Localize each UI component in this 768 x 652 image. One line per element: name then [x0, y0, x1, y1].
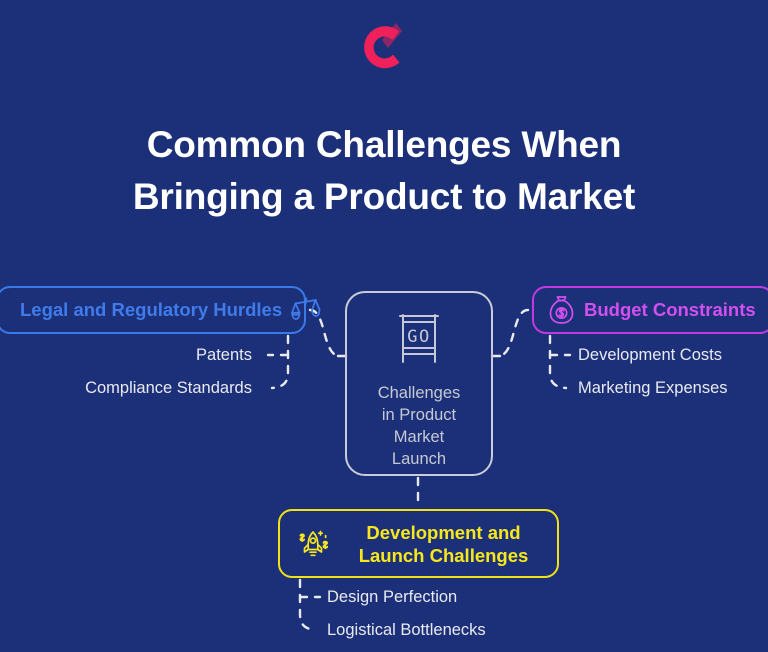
sub-item-compliance-standards[interactable]: Compliance Standards — [85, 379, 252, 398]
connector-budget-to-center — [500, 310, 528, 356]
infographic-canvas: Common Challenges When Bringing a Produc… — [0, 0, 768, 652]
sub-item-patents[interactable]: Patents — [196, 346, 252, 365]
center-card-label: Challenges in Product Market Launch — [378, 382, 461, 470]
rocket-money-icon — [294, 525, 332, 563]
connector-development-trunk — [300, 580, 316, 630]
center-line-1: Challenges — [378, 382, 461, 404]
branch-card-development[interactable]: Development and Launch Challenges — [278, 509, 559, 578]
sub-item-marketing-expenses[interactable]: Marketing Expenses — [578, 379, 728, 398]
connector-budget-trunk — [550, 336, 566, 388]
connector-legal-trunk — [272, 336, 288, 388]
center-card[interactable]: GO Challenges in Product Market Launch — [345, 291, 493, 476]
sub-item-development-costs[interactable]: Development Costs — [578, 346, 722, 365]
branch-label-budget: Budget Constraints — [584, 299, 756, 321]
sub-item-design-perfection[interactable]: Design Perfection — [327, 588, 457, 607]
letter-c-logo-icon — [355, 20, 413, 74]
branch-card-budget[interactable]: Budget Constraints — [532, 286, 768, 334]
center-line-2: in Product — [378, 404, 461, 426]
go-flag-text: GO — [407, 327, 430, 347]
branch-card-legal[interactable]: Legal and Regulatory Hurdles — [0, 286, 306, 334]
go-flag-icon: GO — [386, 312, 452, 369]
branch-label-legal: Legal and Regulatory Hurdles — [20, 299, 282, 321]
money-bag-icon — [548, 295, 575, 325]
brand-logo — [0, 18, 768, 76]
page-title: Common Challenges When Bringing a Produc… — [0, 119, 768, 223]
sub-item-logistical-bottlenecks[interactable]: Logistical Bottlenecks — [327, 621, 486, 640]
branch-label-development: Development and Launch Challenges — [344, 521, 543, 567]
center-line-3: Market — [378, 426, 461, 448]
center-line-4: Launch — [378, 448, 461, 470]
title-line-2: Bringing a Product to Market — [0, 171, 768, 223]
balance-scales-icon — [291, 296, 321, 324]
title-line-1: Common Challenges When — [0, 119, 768, 171]
